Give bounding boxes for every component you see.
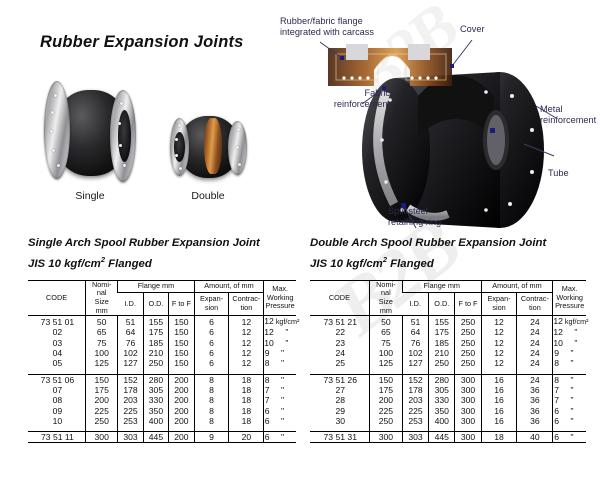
cell-contraction: 18	[229, 395, 264, 405]
cell-contraction: 12	[229, 348, 264, 358]
th-code: CODE	[28, 280, 86, 315]
cell-inner-diameter: 51	[118, 316, 143, 328]
cell-nominal-size: 150	[86, 374, 118, 385]
table-row: 051251272501506128"	[28, 358, 296, 368]
cell-max-working-pressure: 7"	[264, 385, 296, 395]
cell-max-working-pressure: 12 kgf/cm²	[553, 316, 586, 328]
table-row: 2717517830530016367"	[310, 385, 586, 395]
pressure-unit: "	[270, 416, 296, 426]
cell-inner-diameter: 225	[118, 406, 143, 416]
cell-max-working-pressure: 12"	[264, 327, 296, 337]
cell-max-working-pressure: 8"	[264, 358, 296, 368]
cell-inner-diameter: 178	[402, 385, 428, 395]
cell-expansion: 6	[194, 358, 229, 368]
cell-code: 07	[28, 385, 86, 395]
cell-nominal-size: 50	[86, 316, 118, 328]
cell-nominal-size: 100	[86, 348, 118, 358]
cell-face-to-face: 300	[455, 395, 481, 405]
table-row: 73 51 113003034452009206"	[28, 432, 296, 443]
cell-nominal-size: 65	[369, 327, 402, 337]
table-row: 071751783052008187"	[28, 385, 296, 395]
cell-outer-diameter: 175	[429, 327, 455, 337]
cell-inner-diameter: 178	[118, 385, 143, 395]
cell-inner-diameter: 127	[402, 358, 428, 368]
cell-max-working-pressure: 8"	[553, 358, 586, 368]
cell-inner-diameter: 203	[402, 395, 428, 405]
cell-outer-diameter: 400	[143, 416, 168, 426]
th-nominal-size: Nomi- nal Size mm	[369, 280, 402, 315]
spec-table-single: CODE Nomi- nal Size mm Flange mm Amount,…	[28, 280, 296, 444]
th-flange: Flange mm	[402, 280, 481, 292]
cell-outer-diameter: 210	[429, 348, 455, 358]
cell-code: 27	[310, 385, 369, 395]
cell-outer-diameter: 305	[143, 385, 168, 395]
pressure-unit: "	[559, 385, 585, 395]
th-max-working-pressure: Max. Working Pressure	[553, 280, 586, 315]
table-row: 092252253502008186"	[28, 406, 296, 416]
photo-caption-double: Double	[152, 190, 264, 202]
cell-outer-diameter: 185	[429, 338, 455, 348]
pressure-unit: "	[559, 395, 585, 405]
cell-outer-diameter: 350	[429, 406, 455, 416]
cell-expansion: 8	[194, 385, 229, 395]
cell-contraction: 24	[517, 327, 553, 337]
cell-code: 73 51 06	[28, 374, 86, 385]
table-row: 041001022101506129"	[28, 348, 296, 358]
cell-face-to-face: 200	[169, 406, 194, 416]
cell-contraction: 36	[517, 395, 553, 405]
table-row: 73 51 061501522802008188"	[28, 374, 296, 385]
cell-contraction: 24	[517, 358, 553, 368]
table-block-single-arch: Single Arch Spool Rubber Expansion Joint…	[28, 236, 296, 443]
header-row-top: CODE Nomi- nal Size mm Flange mm Amount,…	[28, 280, 296, 292]
cell-outer-diameter: 175	[143, 327, 168, 337]
pressure-value: 12	[553, 316, 563, 326]
table-row: 3025025340030016366"	[310, 416, 586, 426]
photo-single-joint: Single	[30, 78, 150, 188]
cell-nominal-size: 75	[86, 338, 118, 348]
cell-outer-diameter: 210	[143, 348, 168, 358]
table-row: 73 51 01505115515061212 kgf/cm²	[28, 316, 296, 328]
cell-outer-diameter: 250	[143, 358, 168, 368]
cell-max-working-pressure: 6"	[264, 406, 296, 416]
cell-code: 05	[28, 358, 86, 368]
cell-outer-diameter: 445	[143, 432, 168, 443]
cell-max-working-pressure: 7"	[553, 385, 586, 395]
cell-code: 09	[28, 406, 86, 416]
pressure-unit: "	[270, 385, 296, 395]
cell-nominal-size: 200	[369, 395, 402, 405]
cell-face-to-face: 300	[455, 374, 481, 385]
table-header: CODE Nomi- nal Size mm Flange mm Amount,…	[310, 280, 586, 315]
table-title-line2-post: Flanged	[105, 257, 152, 269]
cell-outer-diameter: 185	[143, 338, 168, 348]
cell-code: 73 51 21	[310, 316, 369, 328]
table-header: CODE Nomi- nal Size mm Flange mm Amount,…	[28, 280, 296, 315]
cell-contraction: 36	[517, 406, 553, 416]
cell-code: 73 51 26	[310, 374, 369, 385]
label-tube: Tube	[548, 168, 598, 179]
cell-inner-diameter: 76	[118, 338, 143, 348]
pressure-unit: "	[559, 348, 585, 358]
th-code: CODE	[310, 280, 369, 315]
cell-outer-diameter: 330	[429, 395, 455, 405]
label-split-steel-retaining-ring: Split steel retaining ring	[388, 206, 483, 229]
pressure-value: 12	[264, 316, 274, 326]
cell-nominal-size: 65	[86, 327, 118, 337]
cell-nominal-size: 250	[86, 416, 118, 426]
cutaway-diagram: Rubber/fabric flange integrated with car…	[300, 0, 600, 236]
cell-inner-diameter: 51	[402, 316, 428, 328]
cell-max-working-pressure: 9"	[553, 348, 586, 358]
cell-inner-diameter: 102	[118, 348, 143, 358]
cell-inner-diameter: 303	[402, 432, 428, 443]
pressure-unit: "	[559, 406, 585, 416]
th-id: I.D.	[118, 293, 143, 316]
cell-contraction: 24	[517, 348, 553, 358]
table-title-single: Single Arch Spool Rubber Expansion Joint…	[28, 236, 296, 272]
cell-face-to-face: 300	[455, 432, 481, 443]
cell-expansion: 16	[481, 395, 517, 405]
th-expansion: Expan- sion	[194, 293, 229, 316]
cell-expansion: 8	[194, 374, 229, 385]
cell-outer-diameter: 250	[429, 358, 455, 368]
pressure-unit: "	[270, 348, 296, 358]
table-row: 2820020333030016367"	[310, 395, 586, 405]
cell-nominal-size: 175	[86, 385, 118, 395]
table-title-double: Double Arch Spool Rubber Expansion Joint…	[310, 236, 586, 272]
cell-expansion: 16	[481, 385, 517, 395]
cell-inner-diameter: 203	[118, 395, 143, 405]
cell-contraction: 12	[229, 338, 264, 348]
cell-face-to-face: 250	[455, 327, 481, 337]
cell-max-working-pressure: 7"	[264, 395, 296, 405]
cell-max-working-pressure: 10"	[553, 338, 586, 348]
cell-nominal-size: 150	[369, 374, 402, 385]
cell-nominal-size: 225	[86, 406, 118, 416]
cell-max-working-pressure: 6"	[264, 432, 296, 443]
cell-expansion: 9	[194, 432, 229, 443]
table-title-line2-pre: JIS 10 kgf/cm	[310, 257, 383, 269]
table-row: 102502534002008186"	[28, 416, 296, 426]
cell-contraction: 18	[229, 374, 264, 385]
cell-code: 10	[28, 416, 86, 426]
cell-max-working-pressure: 10"	[264, 338, 296, 348]
cell-face-to-face: 150	[169, 327, 194, 337]
cell-face-to-face: 250	[455, 348, 481, 358]
cell-face-to-face: 150	[169, 338, 194, 348]
table-row: 082002033302008187"	[28, 395, 296, 405]
cell-contraction: 12	[229, 316, 264, 328]
bore-opening	[118, 110, 131, 162]
cell-face-to-face: 250	[455, 316, 481, 328]
cell-expansion: 6	[194, 327, 229, 337]
cell-face-to-face: 150	[169, 316, 194, 328]
pressure-value: 12	[553, 327, 563, 337]
cell-face-to-face: 300	[455, 406, 481, 416]
cell-face-to-face: 200	[169, 416, 194, 426]
label-cover: Cover	[460, 24, 520, 35]
label-metal-reinforcement: Metal reinforcement	[540, 104, 600, 127]
cell-inner-diameter: 102	[402, 348, 428, 358]
pressure-value: 10	[553, 338, 563, 348]
cell-max-working-pressure: 6"	[553, 416, 586, 426]
cell-expansion: 16	[481, 416, 517, 426]
cell-face-to-face: 250	[455, 338, 481, 348]
cell-outer-diameter: 280	[143, 374, 168, 385]
table-row: 73 51 215051155250122412 kgf/cm²	[310, 316, 586, 328]
copper-band	[204, 118, 222, 174]
th-contraction: Contrac- tion	[517, 293, 553, 316]
cell-expansion: 8	[194, 395, 229, 405]
photo-double-joint: Double	[152, 108, 264, 196]
bore-opening	[174, 132, 185, 162]
cell-expansion: 12	[481, 327, 517, 337]
cell-face-to-face: 200	[169, 432, 194, 443]
cell-outer-diameter: 155	[429, 316, 455, 328]
cell-outer-diameter: 350	[143, 406, 168, 416]
cell-max-working-pressure: 6"	[553, 432, 586, 443]
cell-face-to-face: 300	[455, 385, 481, 395]
pressure-unit: "	[559, 432, 585, 442]
pressure-unit: "	[563, 327, 589, 337]
cell-contraction: 24	[517, 374, 553, 385]
pressure-unit: "	[270, 432, 296, 442]
cell-inner-diameter: 64	[402, 327, 428, 337]
cell-contraction: 24	[517, 338, 553, 348]
table-body: 73 51 215051155250122412 kgf/cm² 2265641…	[310, 316, 586, 443]
pressure-value: 12	[264, 327, 274, 337]
cell-code: 08	[28, 395, 86, 405]
cell-expansion: 8	[194, 406, 229, 416]
cell-inner-diameter: 152	[118, 374, 143, 385]
th-ftf: F to F	[455, 293, 481, 316]
th-max-working-pressure: Max. Working Pressure	[264, 280, 296, 315]
cell-nominal-size: 100	[369, 348, 402, 358]
cell-code: 73 51 01	[28, 316, 86, 328]
cell-max-working-pressure: 8"	[264, 374, 296, 385]
cell-inner-diameter: 64	[118, 327, 143, 337]
cell-nominal-size: 300	[86, 432, 118, 443]
table-row: 73 51 2615015228030016248"	[310, 374, 586, 385]
th-id: I.D.	[402, 293, 428, 316]
cell-code: 25	[310, 358, 369, 368]
th-expansion: Expan- sion	[481, 293, 517, 316]
pressure-unit: "	[274, 327, 300, 337]
cell-outer-diameter: 305	[429, 385, 455, 395]
pressure-unit: "	[270, 375, 296, 385]
cell-outer-diameter: 280	[429, 374, 455, 385]
cell-max-working-pressure: 12"	[553, 327, 586, 337]
cell-outer-diameter: 330	[143, 395, 168, 405]
cell-contraction: 36	[517, 416, 553, 426]
cell-expansion: 12	[481, 316, 517, 328]
cell-code: 03	[28, 338, 86, 348]
cell-contraction: 18	[229, 406, 264, 416]
cell-inner-diameter: 127	[118, 358, 143, 368]
cell-inner-diameter: 253	[402, 416, 428, 426]
cell-nominal-size: 75	[369, 338, 402, 348]
table-row: 237576185250122410"	[310, 338, 586, 348]
cell-max-working-pressure: 6"	[264, 416, 296, 426]
cell-expansion: 12	[481, 348, 517, 358]
cell-face-to-face: 150	[169, 348, 194, 358]
cell-contraction: 24	[517, 316, 553, 328]
table-row: 73 51 3130030344530018406"	[310, 432, 586, 443]
pressure-unit: "	[270, 395, 296, 405]
cell-nominal-size: 225	[369, 406, 402, 416]
cell-face-to-face: 150	[169, 358, 194, 368]
cell-nominal-size: 125	[369, 358, 402, 368]
cell-nominal-size: 200	[86, 395, 118, 405]
table-row: 2922522535030016366"	[310, 406, 586, 416]
pressure-unit: "	[559, 416, 585, 426]
cell-code: 29	[310, 406, 369, 416]
cell-face-to-face: 200	[169, 395, 194, 405]
table-title-line2-post: Flanged	[387, 257, 434, 269]
cell-max-working-pressure: 9"	[264, 348, 296, 358]
pressure-value: 10	[264, 338, 274, 348]
label-rubber-fabric-flange: Rubber/fabric flange integrated with car…	[280, 16, 415, 39]
cell-code: 04	[28, 348, 86, 358]
cell-expansion: 16	[481, 374, 517, 385]
th-ftf: F to F	[169, 293, 194, 316]
cell-contraction: 12	[229, 358, 264, 368]
cell-outer-diameter: 445	[429, 432, 455, 443]
th-od: O.D.	[429, 293, 455, 316]
pressure-unit: "	[563, 338, 589, 348]
th-nominal-size: Nomi- nal Size mm	[86, 280, 118, 315]
cell-contraction: 18	[229, 385, 264, 395]
cell-max-working-pressure: 7"	[553, 395, 586, 405]
cell-code: 23	[310, 338, 369, 348]
header-row-top: CODE Nomi- nal Size mm Flange mm Amount,…	[310, 280, 586, 292]
catalog-page: B2B B2B Rubber Expansion Joints Single	[0, 0, 600, 494]
cell-expansion: 6	[194, 316, 229, 328]
cell-code: 22	[310, 327, 369, 337]
cell-expansion: 6	[194, 338, 229, 348]
label-fabric-reinforcement: Fabric reinforcement	[310, 88, 390, 111]
pressure-unit: "	[270, 358, 296, 368]
th-amount: Amount, of mm	[481, 280, 553, 292]
cell-code: 30	[310, 416, 369, 426]
table-block-double-arch: Double Arch Spool Rubber Expansion Joint…	[310, 236, 586, 443]
pressure-unit: "	[559, 375, 585, 385]
cell-expansion: 8	[194, 416, 229, 426]
th-contraction: Contrac- tion	[229, 293, 264, 316]
cell-face-to-face: 300	[455, 416, 481, 426]
cell-inner-diameter: 76	[402, 338, 428, 348]
cell-contraction: 20	[229, 432, 264, 443]
table-row: 226564175250122412"	[310, 327, 586, 337]
cell-inner-diameter: 152	[402, 374, 428, 385]
table-body: 73 51 01505115515061212 kgf/cm² 02656417…	[28, 316, 296, 443]
cell-inner-diameter: 253	[118, 416, 143, 426]
table-row: 2512512725025012248"	[310, 358, 586, 368]
cell-nominal-size: 125	[86, 358, 118, 368]
cell-code: 28	[310, 395, 369, 405]
cell-max-working-pressure: 6"	[553, 406, 586, 416]
cell-max-working-pressure: 12 kgf/cm²	[264, 316, 296, 328]
cell-nominal-size: 175	[369, 385, 402, 395]
cell-expansion: 16	[481, 406, 517, 416]
cell-code: 73 51 31	[310, 432, 369, 443]
cell-contraction: 36	[517, 385, 553, 395]
cell-outer-diameter: 155	[143, 316, 168, 328]
cell-outer-diameter: 400	[429, 416, 455, 426]
photo-caption-single: Single	[30, 190, 150, 202]
th-od: O.D.	[143, 293, 168, 316]
page-title: Rubber Expansion Joints	[40, 33, 244, 52]
pressure-unit: "	[559, 358, 585, 368]
cell-expansion: 12	[481, 358, 517, 368]
cell-contraction: 40	[517, 432, 553, 443]
cell-nominal-size: 250	[369, 416, 402, 426]
cell-expansion: 18	[481, 432, 517, 443]
th-flange: Flange mm	[118, 280, 194, 292]
cell-face-to-face: 250	[455, 358, 481, 368]
spec-table-double: CODE Nomi- nal Size mm Flange mm Amount,…	[310, 280, 586, 444]
cell-inner-diameter: 303	[118, 432, 143, 443]
cell-code: 24	[310, 348, 369, 358]
cell-expansion: 12	[481, 338, 517, 348]
table-title-line2-pre: JIS 10 kgf/cm	[28, 257, 101, 269]
cell-code: 73 51 11	[28, 432, 86, 443]
pressure-unit: "	[270, 406, 296, 416]
cell-nominal-size: 300	[369, 432, 402, 443]
cell-contraction: 18	[229, 416, 264, 426]
cell-code: 02	[28, 327, 86, 337]
pressure-unit: "	[274, 338, 300, 348]
table-row: 2410010221025012249"	[310, 348, 586, 358]
table-row: 02656417515061212"	[28, 327, 296, 337]
th-amount: Amount, of mm	[194, 280, 264, 292]
table-title-line1: Single Arch Spool Rubber Expansion Joint	[28, 237, 260, 249]
cell-face-to-face: 200	[169, 374, 194, 385]
cell-max-working-pressure: 8"	[553, 374, 586, 385]
cell-contraction: 12	[229, 327, 264, 337]
pressure-unit: kgf/cm²	[563, 317, 589, 326]
table-title-line1: Double Arch Spool Rubber Expansion Joint	[310, 237, 546, 249]
pressure-unit: kgf/cm²	[274, 317, 300, 326]
cell-nominal-size: 50	[369, 316, 402, 328]
cell-face-to-face: 200	[169, 385, 194, 395]
cell-expansion: 6	[194, 348, 229, 358]
table-row: 03757618515061210"	[28, 338, 296, 348]
cell-inner-diameter: 225	[402, 406, 428, 416]
